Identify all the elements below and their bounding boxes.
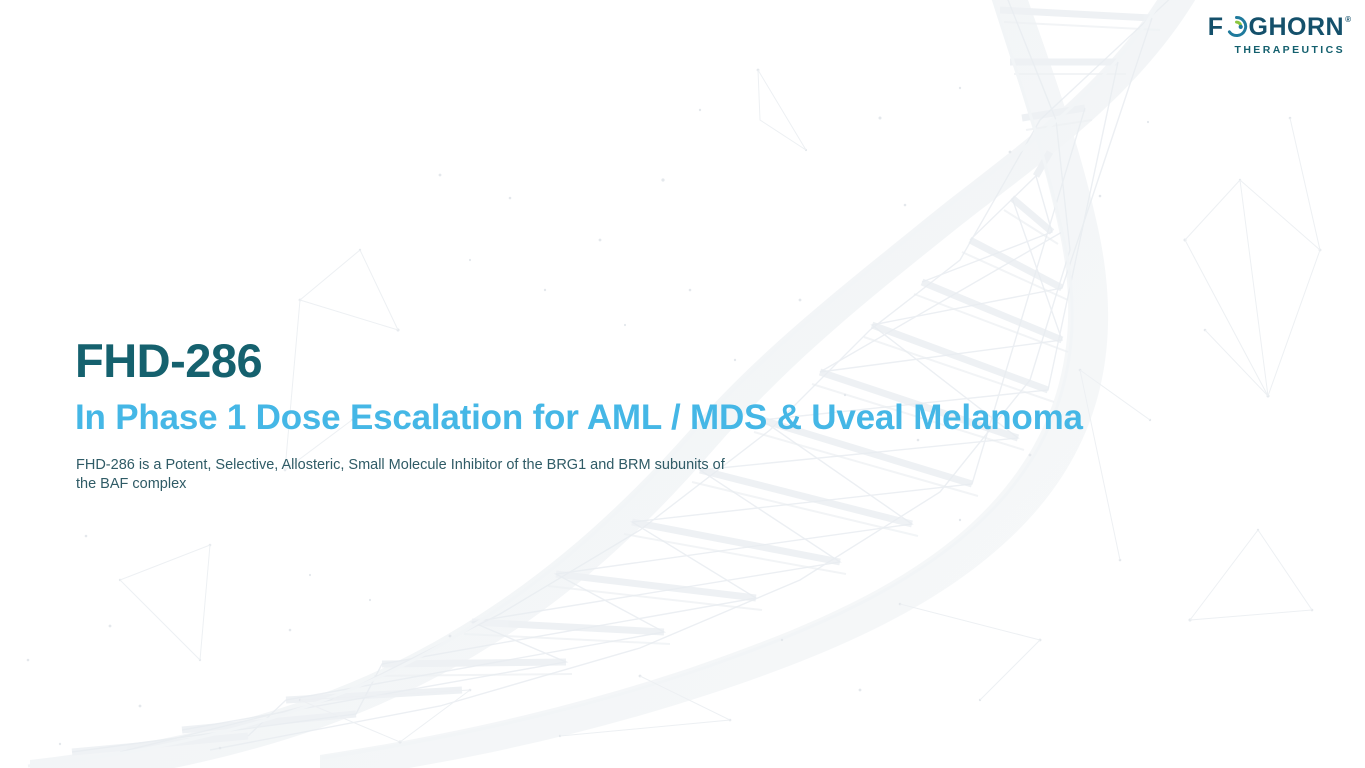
foghorn-logo: F GHORN ® THERAPEUTICS bbox=[1208, 14, 1351, 56]
registered-trademark-icon: ® bbox=[1345, 16, 1351, 24]
logo-tagline: THERAPEUTICS bbox=[1235, 45, 1345, 56]
slide-root: F GHORN ® THERAPEUTICS FHD-286 In Phase … bbox=[0, 0, 1365, 768]
title-block: FHD-286 In Phase 1 Dose Escalation for A… bbox=[75, 336, 1275, 494]
page-title: FHD-286 bbox=[75, 336, 1275, 385]
logo-wordmark: F GHORN ® bbox=[1208, 14, 1351, 41]
page-subtitle: In Phase 1 Dose Escalation for AML / MDS… bbox=[75, 399, 1275, 438]
logo-word-post: GHORN bbox=[1249, 15, 1345, 40]
foghorn-o-ring-icon bbox=[1225, 15, 1248, 42]
page-description: FHD-286 is a Potent, Selective, Alloster… bbox=[76, 456, 736, 494]
logo-word-pre: F bbox=[1208, 15, 1224, 40]
